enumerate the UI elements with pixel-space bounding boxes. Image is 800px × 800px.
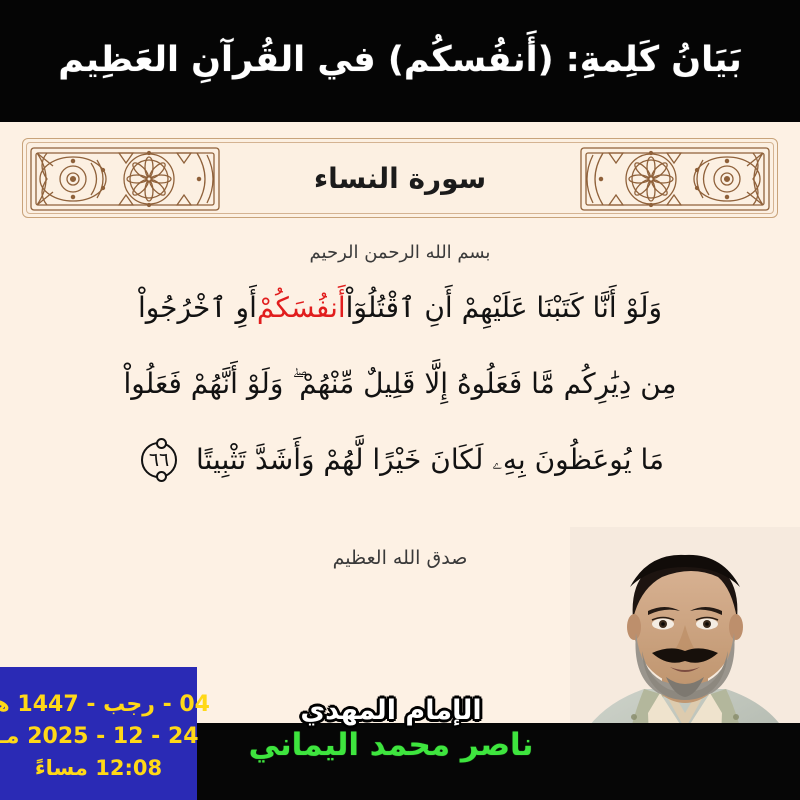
signature-title: الإمام المهدي	[200, 697, 582, 725]
ayah-line: مَا يُوعَظُونَ بِهِۦ لَكَانَ خَيْرًا لَّ…	[18, 437, 782, 483]
ayah-highlight-anfusakum: أَنفُسَكُمْ	[257, 294, 346, 322]
ayah-text-block: وَلَوْ أَنَّا كَتَبْنَا عَلَيْهِمْ أَنِ …	[18, 285, 782, 483]
signature-name: ناصر محمد اليماني	[200, 728, 582, 764]
hijri-date: 04 - رجب - 1447 هـ	[0, 692, 210, 717]
ayah-line: مِن دِيَٰرِكُم مَّا فَعَلُوهُ إِلَّا قَل…	[18, 361, 782, 407]
arabesque-rosette-ornament-icon-right	[577, 143, 773, 213]
ayah-segment: أَوِ ٱخْرُجُواْ	[138, 294, 257, 322]
ayah-segment: مِن دِيَٰرِكُم مَّا فَعَلُوهُ إِلَّا قَل…	[124, 370, 677, 398]
basmala-text: بسم الله الرحمن الرحيم	[0, 242, 800, 263]
page-title: بَيَانُ كَلِمةِ: (أَنفُسكُم) في القُرآنِ…	[58, 39, 741, 83]
ayah-number-marker-icon: ٦٦	[136, 437, 182, 483]
surah-banner-inner: سورة النساء	[26, 142, 774, 214]
signature-block: الإمام المهدي ناصر محمد اليماني	[200, 697, 582, 764]
ayah-line: وَلَوْ أَنَّا كَتَبْنَا عَلَيْهِمْ أَنِ …	[18, 285, 782, 331]
ayah-marker-dot-top	[156, 438, 167, 449]
time-label: 12:08 مساءً	[35, 756, 162, 780]
surah-banner: سورة النساء	[22, 138, 778, 218]
ayah-number: ٦٦	[149, 451, 169, 470]
ayah-segment: وَلَوْ أَنَّا كَتَبْنَا عَلَيْهِمْ أَنِ …	[346, 294, 662, 322]
surah-name-label: سورة النساء	[256, 158, 544, 199]
arabesque-rosette-ornament-icon	[27, 143, 223, 213]
poster-header: بَيَانُ كَلِمةِ: (أَنفُسكُم) في القُرآنِ…	[0, 0, 800, 122]
gregorian-date: 24 - 12 - 2025 مـ	[0, 724, 199, 749]
date-time-block: 04 - رجب - 1447 هـ 24 - 12 - 2025 مـ 12:…	[0, 667, 197, 800]
ayah-marker-dot-bottom	[156, 471, 167, 482]
quran-verse-poster: بَيَانُ كَلِمةِ: (أَنفُسكُم) في القُرآنِ…	[0, 0, 800, 800]
ayah-segment: مَا يُوعَظُونَ بِهِۦ لَكَانَ خَيْرًا لَّ…	[196, 446, 664, 474]
